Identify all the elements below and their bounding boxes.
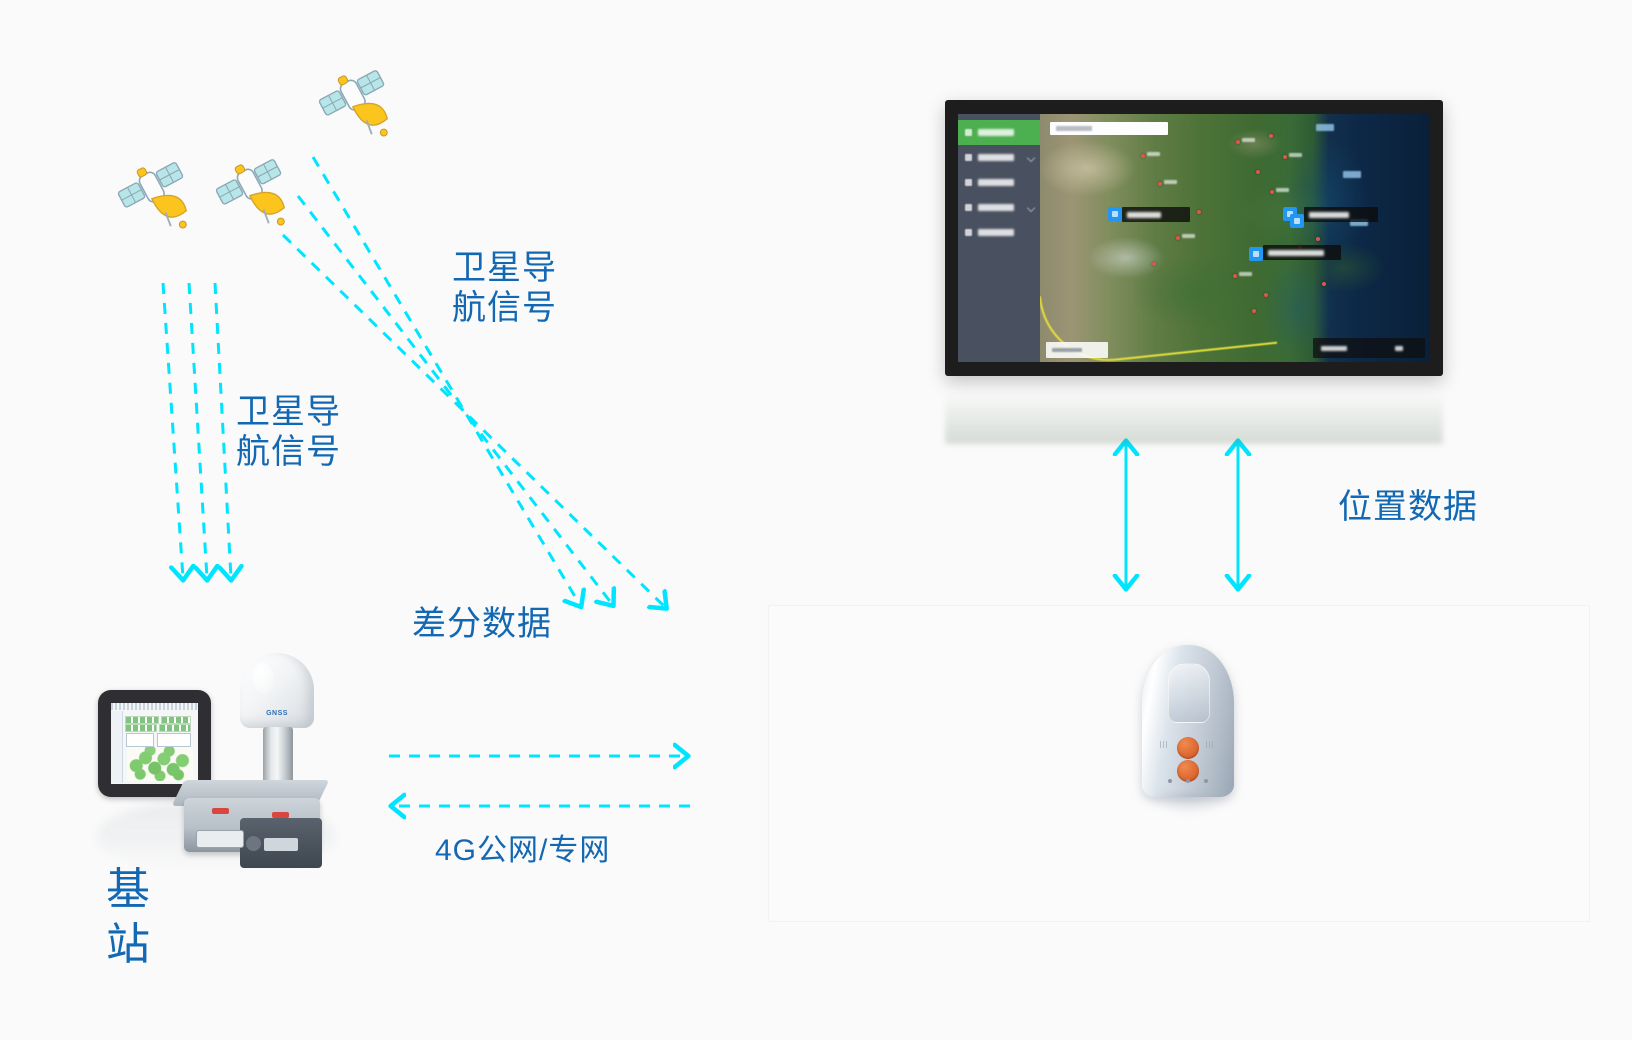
map-city-dot [1176,236,1180,240]
sidebar-item-label [978,154,1014,161]
map-city-dot [1252,309,1256,313]
sidebar-item-5[interactable] [958,220,1040,245]
receiver-body [184,798,320,852]
terminal-speaker-left [1160,741,1169,748]
map-ocean-layer [1266,114,1430,362]
map-city-label [1147,152,1160,156]
sidebar-item-label [978,129,1014,136]
receiver-indicator [212,808,229,814]
map-marker-tooltip [1122,207,1190,222]
map-search-input[interactable] [1050,122,1168,135]
map-city-dot [1269,134,1273,138]
map-region-chip [1316,124,1334,131]
terminal-reflection [1150,794,1228,816]
sidebar-item-4[interactable] [958,195,1040,220]
map-city-dot [1316,237,1320,241]
map-city-dot [1264,293,1268,297]
tablet-toolbar [111,703,198,710]
map-city-label [1242,138,1255,142]
tooltip-text [1127,212,1161,218]
map-city-dot [1256,170,1260,174]
map-marker[interactable] [1108,207,1122,221]
tablet-data-row [125,716,159,724]
tablet-sidebar [111,711,123,783]
tablet-scatter-plot [127,747,193,781]
map-city-dot [1270,190,1274,194]
map-marker-tooltip [1304,207,1378,222]
sidebar-item-label [978,204,1014,211]
map-city-dot [1197,210,1201,214]
gear-icon [965,229,972,236]
map-scale-control[interactable] [1046,342,1108,358]
overview-icon [965,129,972,136]
device-icon [965,204,972,211]
map-city-dot [1322,282,1326,286]
terminal-status-led [1186,779,1190,783]
receiver-display [264,838,298,851]
map-marker[interactable] [1249,247,1263,261]
antenna-brand-text: GNSS [266,710,288,717]
receiver-indicator [272,812,289,818]
sidebar-item-2[interactable] [958,145,1040,170]
receiver-handle [196,830,244,848]
map-city-dot [1141,154,1145,158]
map-marker-tooltip [1263,245,1341,260]
terminal-power-button[interactable] [1177,737,1199,759]
diagram-canvas: 卫星导 航信号 卫星导 航信号 差分数据 4G公网/专网 基 站 位置数据 人员… [0,0,1632,1040]
receiver-navigation-pad [246,836,261,851]
tablet-data-row [159,724,191,732]
map-city-label [1276,188,1289,192]
tooltip-text [1268,250,1324,256]
map-city-label [1289,153,1302,157]
map-city-dot [1158,182,1162,186]
tablet-screen [111,703,198,784]
map-region-chip [1343,171,1361,178]
map-city-dot [1283,155,1287,159]
monitoring-workstation [945,100,1443,376]
map-legend-panel[interactable] [1313,338,1425,358]
gnss-receiver [178,780,323,856]
map-city-label [1182,234,1195,238]
terminal-clip [1168,663,1210,723]
map-city-label [1239,272,1252,276]
map-city-dot [1233,274,1237,278]
chevron-down-icon [1027,203,1035,211]
satellite-icon [315,62,401,148]
people-icon [965,179,972,186]
list-icon [965,154,972,161]
label-position-data: 位置数据 [1338,487,1478,527]
label-satellite-navigation-signal-upper: 卫星导 航信号 [452,248,557,328]
antenna-highlight [252,663,274,693]
map-marker[interactable] [1290,214,1304,228]
sidebar-item-label [978,179,1014,186]
sidebar-item-label [978,229,1014,236]
label-base-station: 基 站 [106,862,150,972]
terminal-status-led [1204,779,1208,783]
tablet-data-row [125,724,157,732]
map-viewport[interactable] [1040,114,1430,362]
tablet-window [126,733,154,747]
dashboard-sidebar [958,114,1040,362]
tablet-window [157,733,191,747]
map-city-dot [1236,140,1240,144]
search-placeholder [1056,126,1092,131]
sidebar-item-3[interactable] [958,170,1040,195]
monitor-screen [958,114,1430,362]
dome-antenna: GNSS [240,653,314,728]
terminal-status-led [1168,779,1172,783]
label-network-link: 4G公网/专网 [435,833,610,868]
terminal-speaker-right [1206,741,1215,748]
map-city-dot [1152,262,1156,266]
sidebar-item-overview[interactable] [958,120,1040,145]
tablet-data-row [161,716,191,724]
satellite-icon [212,151,298,237]
monitor-reflection [945,378,1443,444]
satellite-icon [114,154,200,240]
label-differential-data: 差分数据 [412,604,552,644]
personnel-positioning-terminal [1142,645,1234,797]
map-city-label [1164,180,1177,184]
tooltip-text [1309,212,1349,218]
label-satellite-navigation-signal-lower: 卫星导 航信号 [236,392,341,472]
chevron-down-icon [1027,153,1035,161]
